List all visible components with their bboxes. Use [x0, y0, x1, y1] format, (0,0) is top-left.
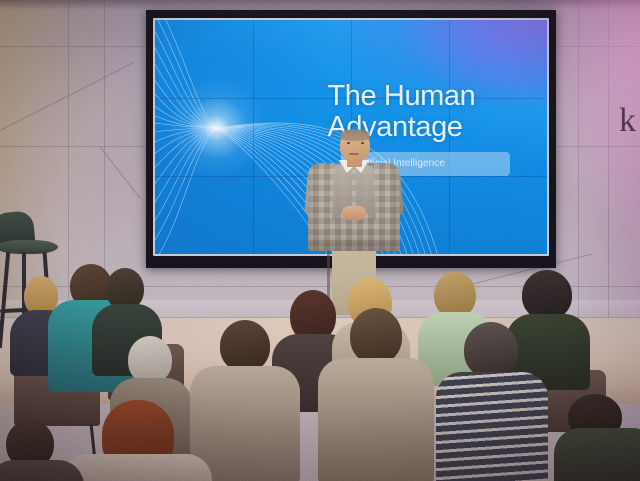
wall-sign-letter: k	[619, 104, 636, 138]
audience-head	[522, 270, 572, 320]
presentation-photo: k	[0, 0, 640, 481]
speaker-hands	[342, 206, 366, 220]
speaker-hair	[340, 129, 370, 141]
list-item	[72, 400, 202, 481]
audience-head	[220, 320, 270, 372]
audience-head	[464, 322, 518, 378]
list-item	[560, 394, 640, 481]
audience-torso	[554, 428, 640, 481]
list-item	[0, 420, 86, 481]
audience-head	[350, 308, 402, 364]
audience-torso	[436, 372, 548, 481]
audience-torso	[318, 358, 434, 481]
stool-leg	[0, 252, 10, 348]
speaker-mouth	[349, 153, 359, 155]
speaker-eye	[347, 142, 350, 144]
list-item	[196, 320, 294, 481]
list-item	[324, 308, 428, 481]
audience-torso	[0, 460, 84, 481]
speaker-eye	[361, 142, 364, 144]
audience-head	[128, 336, 172, 384]
list-item	[440, 322, 542, 481]
